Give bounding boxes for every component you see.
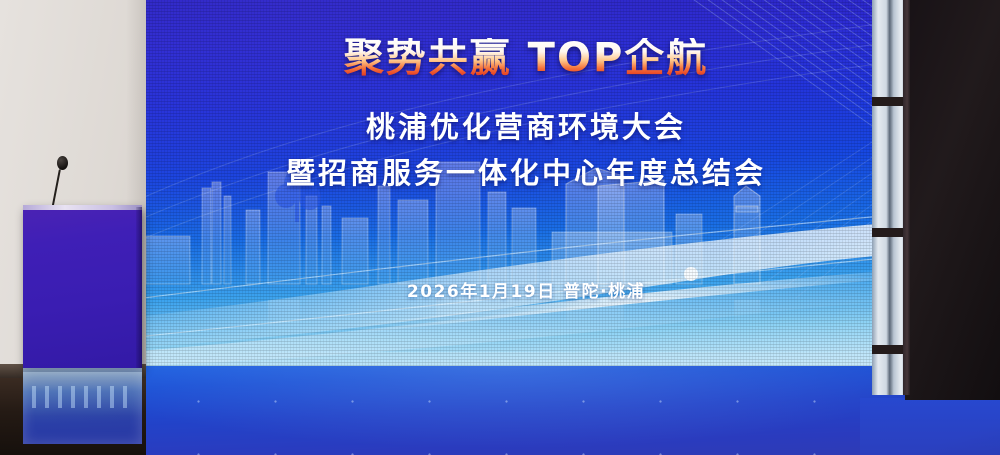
stage-carpet-right [860, 398, 1000, 455]
door-mullion-bottom [872, 345, 906, 354]
podium-side-edge [136, 207, 142, 368]
speaker-podium: 聚势共赢 TOP企航 桃浦优化营商环境大会 暨招商服务一体化中心年度总结会 20… [23, 207, 142, 368]
led-display-wall: 聚势共赢 TOP企航 桃浦优化营商环境大会 暨招商服务一体化中心年度总结会 20… [146, 0, 906, 369]
dark-side-area [905, 0, 1000, 400]
conference-stage-scene: 聚势共赢 TOP企航 桃浦优化营商环境大会 暨招商服务一体化中心年度总结会 20… [0, 0, 1000, 455]
led-text-block: 聚势共赢 TOP企航 桃浦优化营商环境大会 暨招商服务一体化中心年度总结会 20… [146, 0, 906, 369]
glass-door-panel [872, 0, 906, 395]
event-subtitle-line-2: 暨招商服务一体化中心年度总结会 [146, 150, 906, 192]
door-jamb [903, 0, 910, 395]
door-mullion-middle [872, 228, 906, 237]
microphone-icon [57, 156, 68, 170]
podium-base-reflection-bars [32, 386, 132, 408]
podium-top-surface [23, 205, 142, 210]
event-date-location: 2026年1月19日 普陀·桃浦 [146, 277, 906, 302]
event-subtitle-line-1: 桃浦优化营商环境大会 [146, 104, 906, 146]
door-mullion-top [872, 97, 906, 106]
event-main-title: 聚势共赢 TOP企航 [146, 38, 906, 78]
